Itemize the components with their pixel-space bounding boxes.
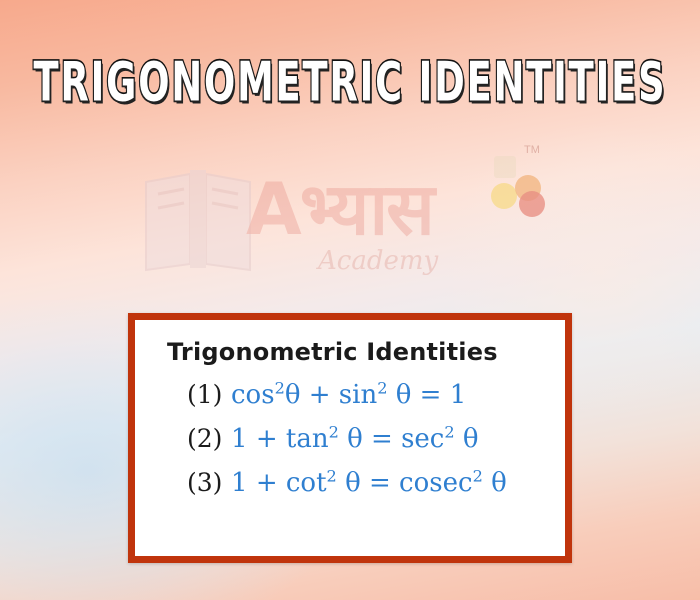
equation-1-fn2: sin [339, 380, 377, 410]
equation-2-number: (2) [187, 424, 231, 453]
equation-1-var2: θ [396, 380, 412, 410]
equation-3-body: 1 + cot2 θ = cosec2 θ [231, 468, 507, 498]
equation-2-rhs-var: θ [463, 424, 479, 454]
card-heading: Trigonometric Identities [167, 338, 565, 366]
equation-3-number: (3) [187, 468, 231, 497]
equation-1-fn1: cos [231, 380, 275, 410]
equation-1-rhs: 1 [450, 380, 467, 410]
equation-3-exp: 2 [327, 466, 337, 485]
watermark-subtitle: Academy [318, 246, 438, 276]
equation-3-var: θ [345, 468, 361, 498]
watermark-logo: Aभ्यास Academy TM [128, 150, 588, 300]
equation-3-operator: + [256, 468, 278, 498]
equation-2-rhs-fn: sec [401, 424, 444, 454]
equation-3-rhs-exp: 2 [473, 466, 483, 485]
equation-2-fn: tan [286, 424, 329, 454]
equation-3-rhs-fn: cosec [399, 468, 473, 498]
open-book-icon [138, 160, 258, 280]
equation-1-number: (1) [187, 380, 231, 409]
equation-2-lead: 1 [231, 424, 248, 454]
equation-3-fn: cot [286, 468, 327, 498]
equation-2-equals: = [371, 424, 393, 454]
equation-3-equals: = [369, 468, 391, 498]
equation-1-exp1: 2 [275, 378, 285, 397]
watermark-trademark: TM [524, 144, 540, 156]
page-canvas: TRIGONOMETRIC IDENTITIES Aभ्यास Academy … [0, 0, 700, 600]
equation-2-exp: 2 [329, 422, 339, 441]
equation-row-2: (2) 1 + tan2 θ = sec2 θ [187, 424, 565, 454]
page-title: TRIGONOMETRIC IDENTITIES [28, 52, 672, 114]
equation-2-var: θ [347, 424, 363, 454]
equation-3-rhs-var: θ [491, 468, 507, 498]
equation-1-equals: = [420, 380, 442, 410]
equation-1-operator: + [309, 380, 331, 410]
equation-3-lead: 1 [231, 468, 248, 498]
watermark-brand-text: Aभ्यास [246, 158, 433, 256]
equation-2-rhs-exp: 2 [444, 422, 454, 441]
formula-card: Trigonometric Identities (1) cos2θ + sin… [128, 313, 572, 563]
logo-dots-icon [484, 148, 564, 228]
watermark-brand-script: भ्यास [300, 167, 433, 251]
equation-1-body: cos2θ + sin2 θ = 1 [231, 380, 466, 410]
equation-1-exp2: 2 [377, 378, 387, 397]
equation-row-1: (1) cos2θ + sin2 θ = 1 [187, 380, 565, 410]
equation-row-3: (3) 1 + cot2 θ = cosec2 θ [187, 468, 565, 498]
equation-2-operator: + [256, 424, 278, 454]
watermark-brand-letter: A [246, 167, 300, 251]
equation-1-var1: θ [285, 380, 301, 410]
equation-2-body: 1 + tan2 θ = sec2 θ [231, 424, 479, 454]
